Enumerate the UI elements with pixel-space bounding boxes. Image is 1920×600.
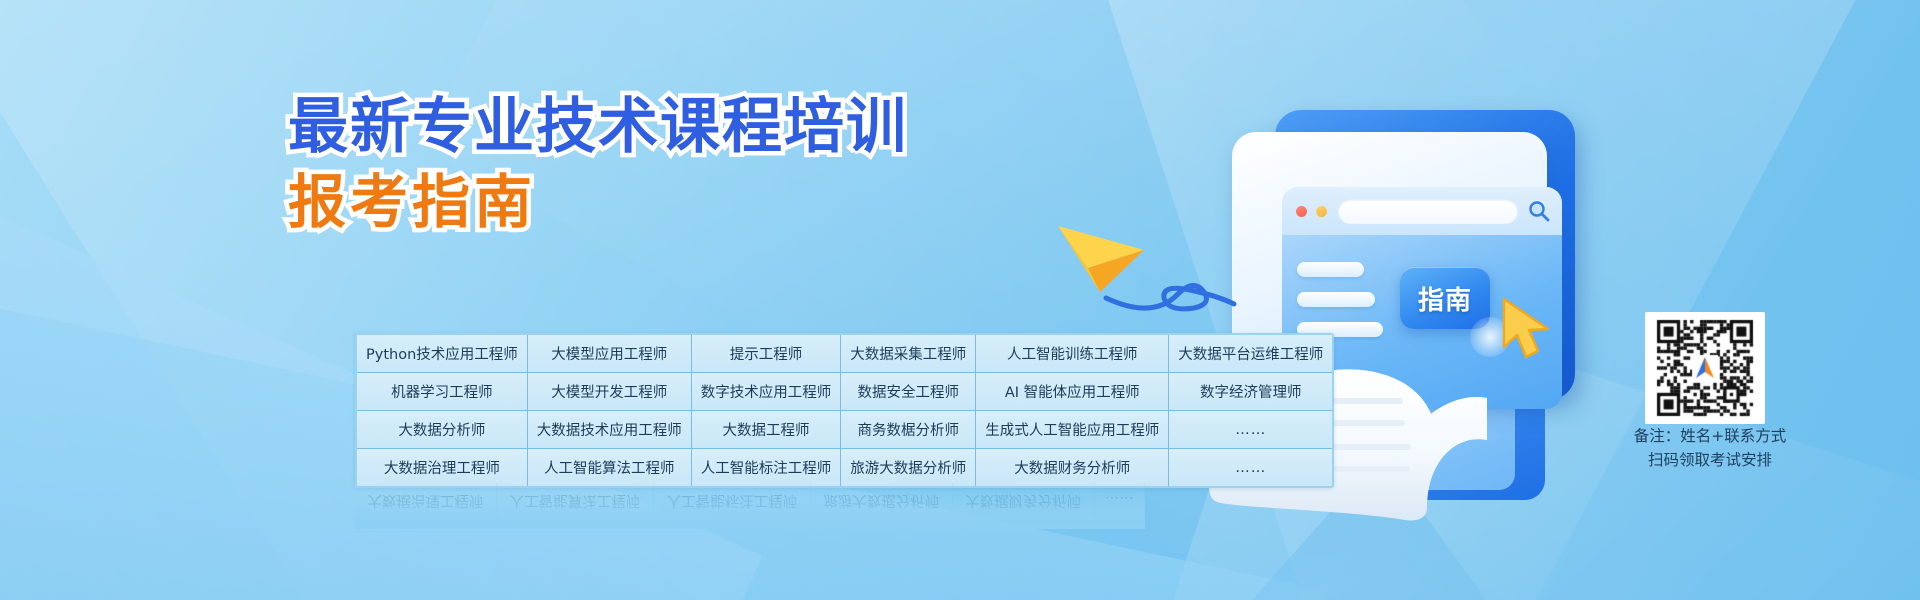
page-title-line1: 最新专业技术课程培训 — [288, 96, 908, 160]
table-cell-reflection: 人工智能标注工程师 — [654, 483, 811, 520]
qr-code-canvas — [1645, 312, 1765, 424]
content-line-2 — [1297, 292, 1375, 307]
table-cell-reflection: 旅游大数据分析师 — [811, 483, 953, 520]
table-cell: 数据安全工程师 — [841, 373, 976, 411]
page-title-line2: 报考指南 — [288, 172, 908, 233]
remark-line-2: 扫码领取考试安排 — [1560, 448, 1860, 472]
promo-banner: 最新专业技术课程培训 报考指南 — [0, 0, 1920, 600]
table-row: 大数据分析师大数据技术应用工程师大数据工程师商务数椐分析师生成式人工智能应用工程… — [357, 411, 1332, 449]
table-cell: 人工智能标注工程师 — [692, 449, 842, 486]
certification-table-reflection-body: 大数据治理工程师人工智能算法工程师人工智能标注工程师旅游大数据分析师大数据财务分… — [355, 483, 1145, 520]
table-cell: Python技术应用工程师 — [357, 335, 528, 373]
paper-plane-icon — [1048, 212, 1248, 327]
table-cell: 人工智能训练工程师 — [976, 335, 1169, 373]
certification-table: Python技术应用工程师大模型应用工程师提示工程师大数据采集工程师人工智能训练… — [355, 333, 1334, 488]
table-cell: 数字经济管理师 — [1169, 373, 1332, 411]
remark-line-1: 备注：姓名+联系方式 — [1560, 424, 1860, 448]
table-cell: 大数据采集工程师 — [841, 335, 976, 373]
yellow-dot-icon — [1316, 206, 1327, 217]
table-cell: 大数据平台运维工程师 — [1169, 335, 1332, 373]
remark-block: 备注：姓名+联系方式 扫码领取考试安排 — [1560, 424, 1860, 472]
qr-code[interactable] — [1645, 312, 1765, 424]
table-cell-reflection: 大数据治理工程师 — [355, 483, 497, 520]
table-cell: 人工智能算法工程师 — [528, 449, 692, 486]
table-row: 大数据治理工程师人工智能算法工程师人工智能标注工程师旅游大数据分析师大数据财务分… — [357, 449, 1332, 486]
guide-button[interactable]: 指南 — [1400, 267, 1490, 329]
search-input[interactable] — [1338, 199, 1518, 224]
guide-button-label: 指南 — [1418, 280, 1472, 317]
table-cell: 大模型应用工程师 — [528, 335, 692, 373]
search-icon[interactable] — [1526, 199, 1552, 225]
table-cell: 大数据治理工程师 — [357, 449, 528, 486]
table-cell: 旅游大数据分析师 — [841, 449, 976, 486]
table-cell: …… — [1169, 449, 1332, 486]
table-cell: 大数据分析师 — [357, 411, 528, 449]
table-cell: 生成式人工智能应用工程师 — [976, 411, 1169, 449]
cursor-arrow-icon — [1498, 295, 1558, 363]
table-row: 机器学习工程师大模型开发工程师数字技术应用工程师数据安全工程师AI 智能体应用工… — [357, 373, 1332, 411]
table-cell: AI 智能体应用工程师 — [976, 373, 1169, 411]
table-cell-reflection: 人工智能算法工程师 — [497, 483, 654, 520]
table-cell: 大数据技术应用工程师 — [528, 411, 692, 449]
certification-table-body: Python技术应用工程师大模型应用工程师提示工程师大数据采集工程师人工智能训练… — [357, 335, 1332, 486]
table-cell: 大数据财务分析师 — [976, 449, 1169, 486]
table-cell: 商务数椐分析师 — [841, 411, 976, 449]
table-row: Python技术应用工程师大模型应用工程师提示工程师大数据采集工程师人工智能训练… — [357, 335, 1332, 373]
table-cell: …… — [1169, 411, 1332, 449]
window-titlebar — [1282, 187, 1562, 235]
table-cell-reflection: …… — [1095, 483, 1145, 520]
table-cell: 数字技术应用工程师 — [692, 373, 842, 411]
table-cell: 大模型开发工程师 — [528, 373, 692, 411]
table-cell: 提示工程师 — [692, 335, 842, 373]
content-line-1 — [1297, 262, 1364, 277]
certification-table-wrapper: Python技术应用工程师大模型应用工程师提示工程师大数据采集工程师人工智能训练… — [355, 333, 1145, 488]
table-cell-reflection: 大数据财务分析师 — [953, 483, 1095, 520]
table-row-reflection: 大数据治理工程师人工智能算法工程师人工智能标注工程师旅游大数据分析师大数据财务分… — [355, 483, 1145, 520]
headline-block: 最新专业技术课程培训 报考指南 — [288, 96, 908, 233]
red-dot-icon — [1296, 206, 1307, 217]
certification-table-reflection: 大数据治理工程师人工智能算法工程师人工智能标注工程师旅游大数据分析师大数据财务分… — [355, 483, 1145, 529]
table-cell: 大数据工程师 — [692, 411, 842, 449]
table-cell: 机器学习工程师 — [357, 373, 528, 411]
